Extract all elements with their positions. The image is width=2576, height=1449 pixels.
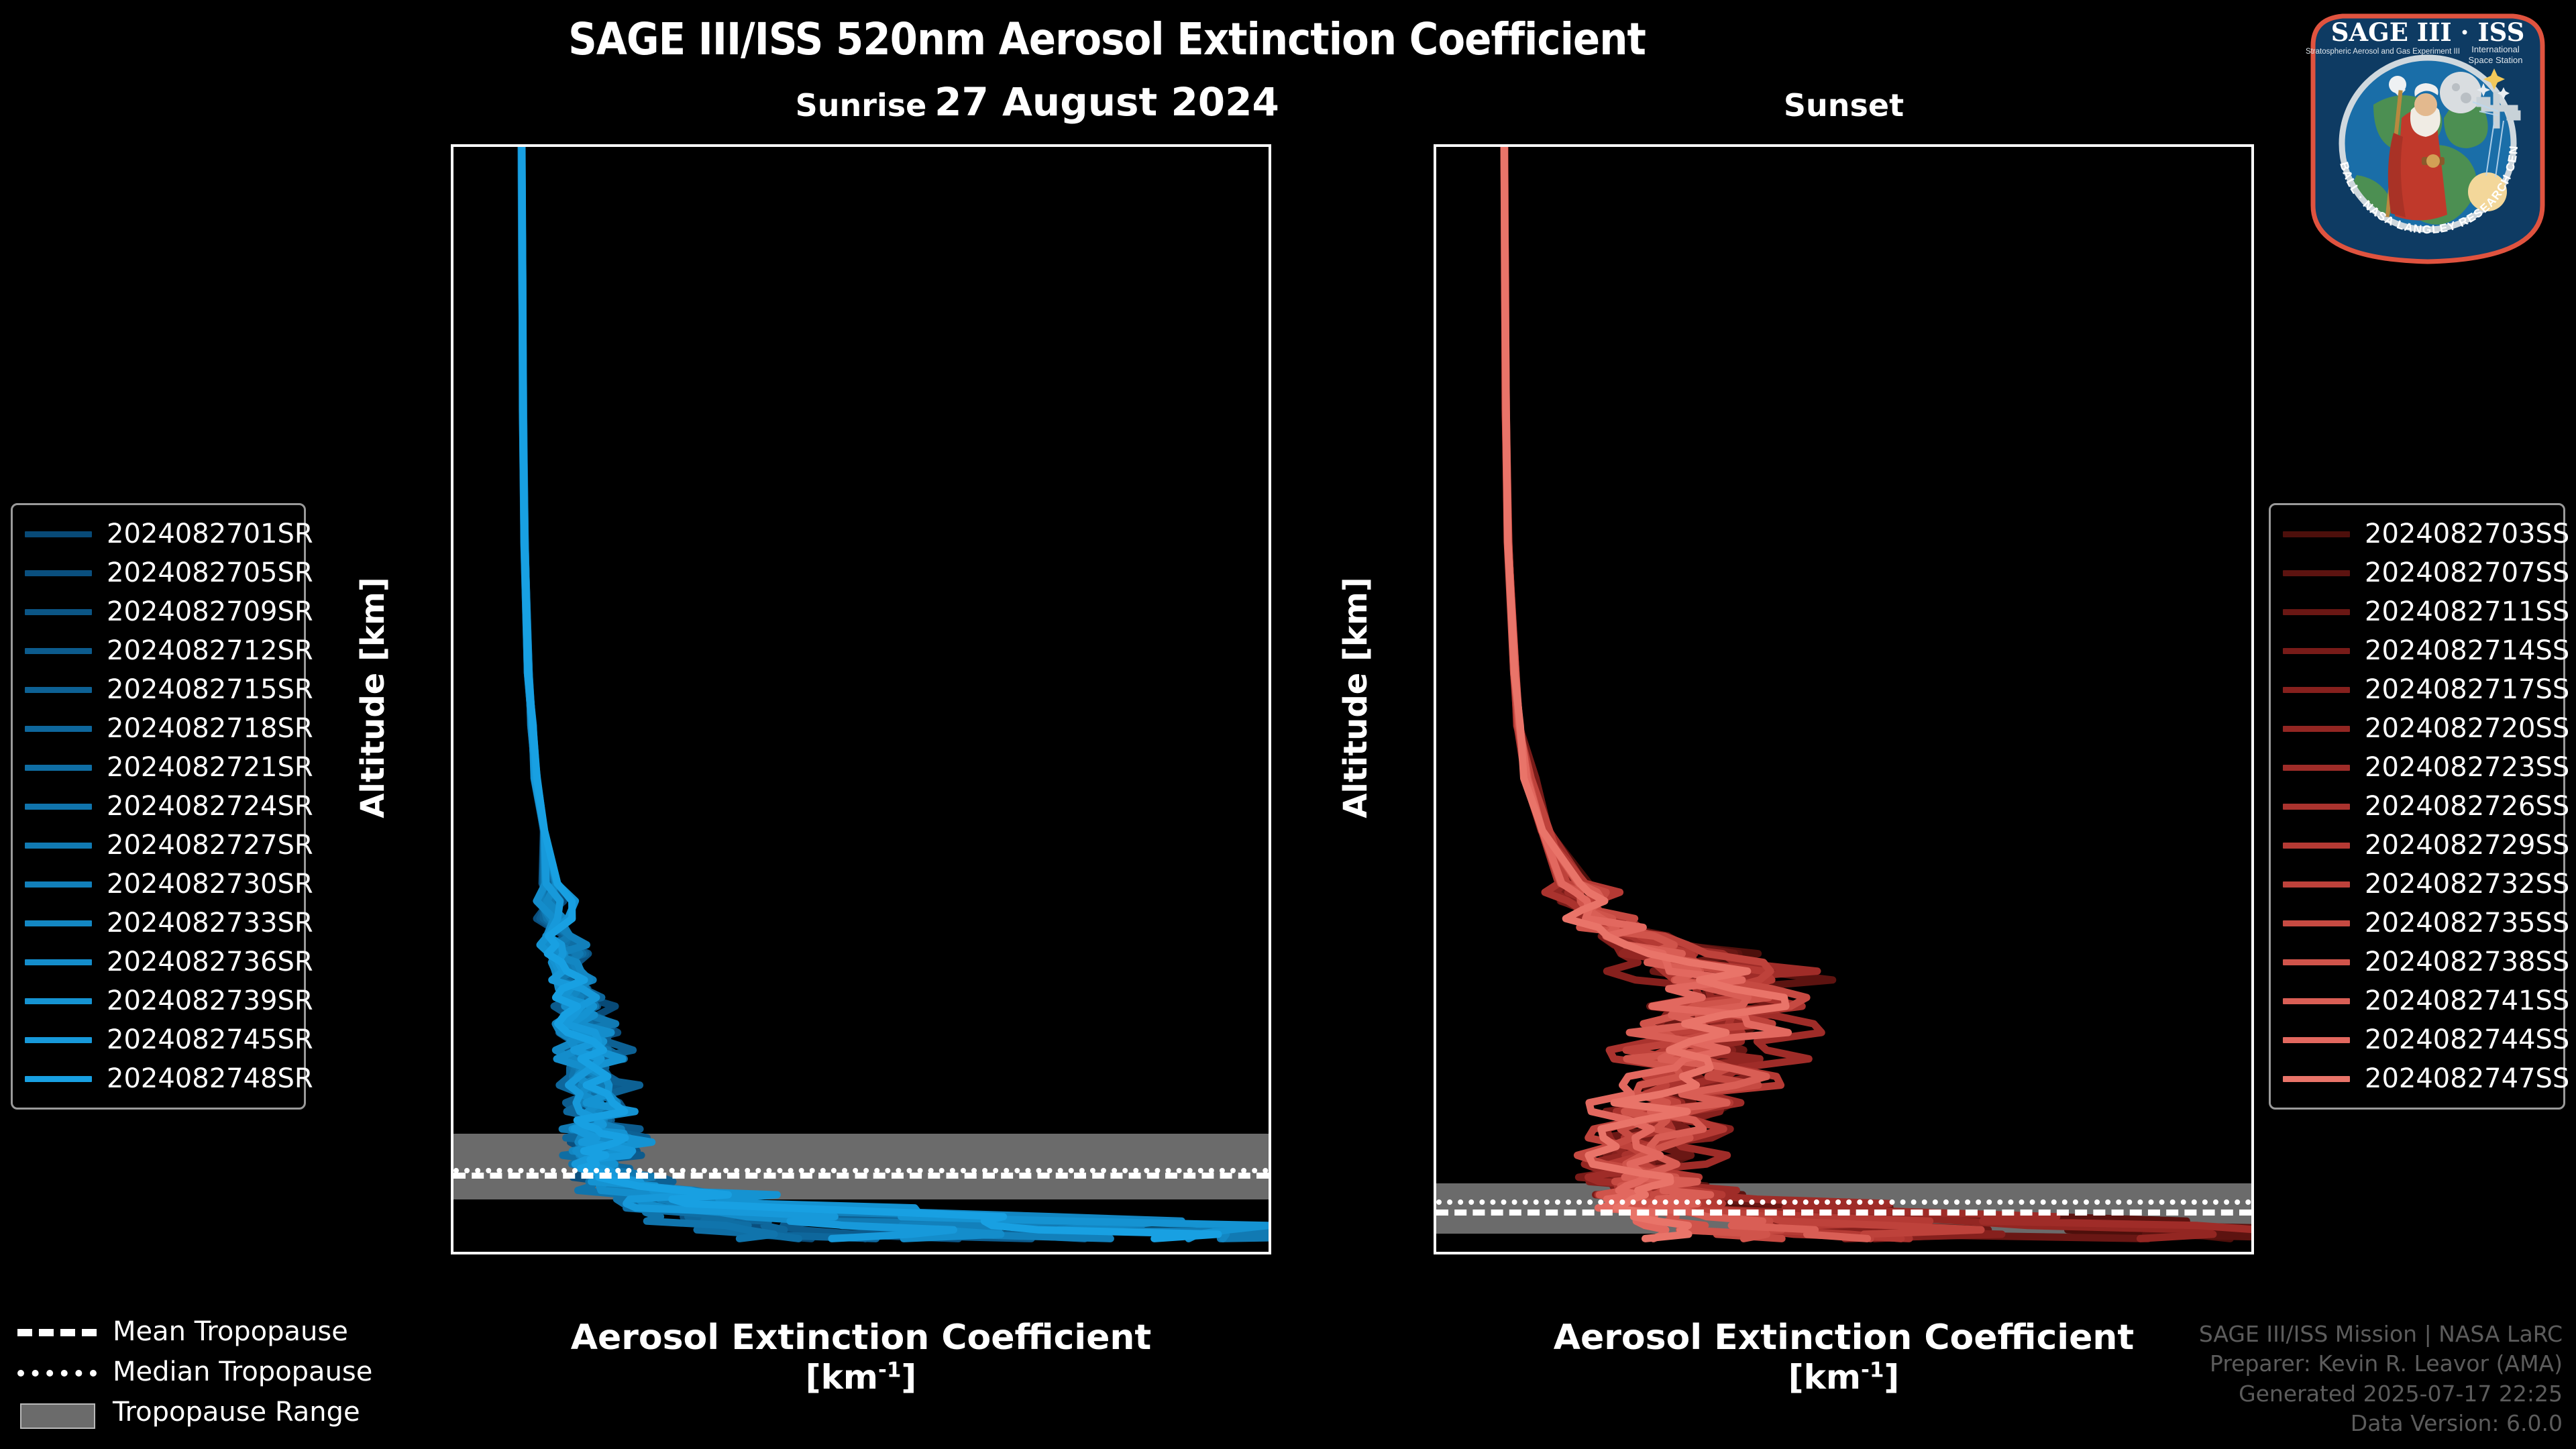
- legend-item[interactable]: 2024082744SS: [2283, 1020, 2551, 1059]
- legend-item[interactable]: 2024082711SS: [2283, 592, 2551, 631]
- legend-color-swatch: [25, 687, 92, 693]
- x-axis-tick: [1952, 1252, 1954, 1254]
- legend-color-swatch: [25, 920, 92, 926]
- profile-line: [522, 147, 1269, 1238]
- x-axis-label-sunset: Aerosol Extinction Coefficient [km-1]: [1434, 1318, 2254, 1397]
- legend-color-swatch: [25, 726, 92, 732]
- y-axis-tick: [1434, 673, 1436, 675]
- tropopause-legend: Mean Tropopause Median Tropopause Tropop…: [17, 1311, 366, 1432]
- profile-curves: [1436, 147, 2251, 1252]
- mean-tropopause-label: Mean Tropopause: [113, 1316, 348, 1347]
- profile-line: [522, 147, 1269, 1238]
- legend-item[interactable]: 2024082715SR: [25, 670, 292, 709]
- legend-color-swatch: [2283, 765, 2350, 771]
- legend-color-swatch: [2283, 843, 2350, 849]
- logo-subtitle-left: Stratospheric Aerosol and Gas Experiment…: [2306, 48, 2460, 56]
- legend-item[interactable]: 2024082739SR: [25, 981, 292, 1020]
- legend-item[interactable]: 2024082736SR: [25, 943, 292, 981]
- legend-item-label: 2024082736SR: [107, 947, 313, 977]
- page-title: SAGE III/ISS 520nm Aerosol Extinction Co…: [0, 13, 2214, 65]
- legend-item-label: 2024082732SS: [2365, 869, 2569, 900]
- legend-item-label: 2024082703SS: [2365, 519, 2569, 549]
- legend-item[interactable]: 2024082701SR: [25, 515, 292, 553]
- legend-color-swatch: [25, 648, 92, 654]
- legend-item-label: 2024082727SR: [107, 830, 313, 861]
- legend-item[interactable]: 2024082730SR: [25, 865, 292, 904]
- legend-item-label: 2024082745SR: [107, 1024, 313, 1055]
- legend-item[interactable]: 2024082726SS: [2283, 787, 2551, 826]
- legend-item-label: 2024082735SS: [2365, 908, 2569, 938]
- mean-tropopause-line: [1436, 1210, 2251, 1216]
- legend-item-label: 2024082718SR: [107, 713, 313, 744]
- legend-item[interactable]: 2024082718SR: [25, 709, 292, 748]
- dashed-line-icon: [17, 1323, 97, 1340]
- shaded-band-icon: [17, 1403, 97, 1421]
- legend-item[interactable]: 2024082724SR: [25, 787, 292, 826]
- legend-color-swatch: [25, 531, 92, 537]
- legend-item-label: 2024082729SS: [2365, 830, 2569, 861]
- legend-item[interactable]: 2024082707SS: [2283, 553, 2551, 592]
- legend-color-swatch: [2283, 998, 2350, 1004]
- x-axis-tick: [2251, 1252, 2253, 1254]
- legend-item[interactable]: 2024082747SS: [2283, 1059, 2551, 1098]
- logo-subtitle-right-2: Space Station: [2469, 55, 2523, 65]
- legend-item-label: 2024082741SS: [2365, 985, 2569, 1016]
- legend-color-swatch: [2283, 881, 2350, 888]
- dotted-line-icon: [17, 1363, 97, 1381]
- legend-item[interactable]: 2024082729SS: [2283, 826, 2551, 865]
- x-axis-label-text: Aerosol Extinction Coefficient: [1554, 1318, 2135, 1358]
- legend-item[interactable]: 2024082717SS: [2283, 670, 2551, 709]
- legend-item-label: 2024082738SS: [2365, 947, 2569, 977]
- y-axis-tick: [1434, 541, 1436, 543]
- profile-line: [1505, 147, 2213, 1238]
- y-axis-tick: [451, 1199, 453, 1201]
- profile-curves: [453, 147, 1269, 1252]
- sunrise-plot-panel: 1015202530354045500.0000.0020.0040.0060.…: [451, 144, 1271, 1254]
- legend-item-tropopause-range: Tropopause Range: [17, 1392, 366, 1432]
- x-axis-label-sunrise: Aerosol Extinction Coefficient [km-1]: [451, 1318, 1271, 1397]
- legend-item[interactable]: 2024082714SS: [2283, 631, 2551, 670]
- y-axis-tick: [1434, 1068, 1436, 1070]
- legend-color-swatch: [2283, 804, 2350, 810]
- y-axis-tick: [451, 1068, 453, 1070]
- tropopause-range-label: Tropopause Range: [113, 1397, 360, 1428]
- legend-color-swatch: [2283, 687, 2350, 693]
- legend-item-label: 2024082723SS: [2365, 752, 2569, 783]
- profile-line: [1505, 147, 2251, 1238]
- legend-sunrise[interactable]: 2024082701SR2024082705SR2024082709SR2024…: [11, 503, 306, 1110]
- x-axis-tick: [1653, 1252, 1655, 1254]
- profile-line: [1505, 147, 2149, 1238]
- legend-item-label: 2024082721SR: [107, 752, 313, 783]
- y-axis-tick: [1434, 278, 1436, 280]
- legend-item-label: 2024082748SR: [107, 1063, 313, 1094]
- legend-item[interactable]: 2024082723SS: [2283, 748, 2551, 787]
- y-axis-tick: [1434, 410, 1436, 412]
- legend-item-label: 2024082705SR: [107, 557, 313, 588]
- footer-preparer: Preparer: Kevin R. Leavor (AMA): [2199, 1349, 2563, 1379]
- mean-tropopause-line: [453, 1173, 1269, 1179]
- legend-color-swatch: [2283, 531, 2350, 537]
- legend-item[interactable]: 2024082703SS: [2283, 515, 2551, 553]
- legend-color-swatch: [2283, 959, 2350, 965]
- y-axis-tick: [451, 147, 453, 149]
- y-axis-label-sunrise: Altitude [km]: [354, 577, 392, 818]
- profile-line: [521, 147, 812, 1238]
- legend-color-swatch: [2283, 570, 2350, 576]
- logo-subtitle-right-1: International: [2471, 44, 2520, 54]
- footer-metadata: SAGE III/ISS Mission | NASA LaRC Prepare…: [2199, 1320, 2563, 1438]
- legend-color-swatch: [2283, 920, 2350, 926]
- legend-item-label: 2024082720SS: [2365, 713, 2569, 744]
- legend-color-swatch: [25, 998, 92, 1004]
- legend-item[interactable]: 2024082727SR: [25, 826, 292, 865]
- x-axis-tick: [969, 1252, 971, 1254]
- legend-color-swatch: [25, 804, 92, 810]
- x-axis-label-text: Aerosol Extinction Coefficient: [571, 1318, 1152, 1358]
- x-axis-tick: [1503, 1252, 1505, 1254]
- legend-item-label: 2024082724SR: [107, 791, 313, 822]
- legend-item[interactable]: 2024082732SS: [2283, 865, 2551, 904]
- legend-color-swatch: [25, 609, 92, 615]
- profile-line: [521, 147, 774, 1238]
- legend-sunset[interactable]: 2024082703SS2024082707SS2024082711SS2024…: [2269, 503, 2565, 1110]
- legend-color-swatch: [25, 1076, 92, 1082]
- y-axis-tick: [451, 410, 453, 412]
- footer-data-version: Data Version: 6.0.0: [2199, 1409, 2563, 1438]
- profile-line: [1505, 147, 2252, 1238]
- legend-item-label: 2024082744SS: [2365, 1024, 2569, 1055]
- x-axis-unit: [km-1]: [1434, 1358, 2254, 1397]
- legend-item[interactable]: 2024082741SS: [2283, 981, 2551, 1020]
- legend-item-label: 2024082712SR: [107, 635, 313, 666]
- legend-item-label: 2024082747SS: [2365, 1063, 2569, 1094]
- legend-item[interactable]: 2024082712SR: [25, 631, 292, 670]
- y-axis-tick: [451, 541, 453, 543]
- legend-item-label: 2024082726SS: [2365, 791, 2569, 822]
- x-axis-tick: [2102, 1252, 2104, 1254]
- y-axis-tick: [1434, 936, 1436, 938]
- y-axis-tick: [1434, 147, 1436, 149]
- sunrise-panel-title: Sunrise: [451, 87, 1271, 123]
- legend-item-label: 2024082711SS: [2365, 596, 2569, 627]
- legend-item-label: 2024082707SS: [2365, 557, 2569, 588]
- legend-item-label: 2024082733SR: [107, 908, 313, 938]
- legend-color-swatch: [25, 959, 92, 965]
- y-axis-tick: [451, 673, 453, 675]
- median-tropopause-label: Median Tropopause: [113, 1356, 372, 1387]
- x-axis-tick: [1803, 1252, 1805, 1254]
- legend-color-swatch: [2283, 1037, 2350, 1043]
- legend-item[interactable]: 2024082705SR: [25, 553, 292, 592]
- legend-item[interactable]: 2024082745SR: [25, 1020, 292, 1059]
- profile-line: [522, 147, 1218, 1238]
- sunset-panel-title: Sunset: [1434, 87, 2254, 123]
- legend-item[interactable]: 2024082709SR: [25, 592, 292, 631]
- legend-color-swatch: [2283, 1076, 2350, 1082]
- legend-item-label: 2024082709SR: [107, 596, 313, 627]
- legend-item[interactable]: 2024082721SR: [25, 748, 292, 787]
- y-axis-tick: [451, 936, 453, 938]
- legend-color-swatch: [25, 1037, 92, 1043]
- legend-item[interactable]: 2024082738SS: [2283, 943, 2551, 981]
- x-axis-tick: [1269, 1252, 1271, 1254]
- x-axis-tick: [820, 1252, 822, 1254]
- legend-item[interactable]: 2024082735SS: [2283, 904, 2551, 943]
- legend-item-median-tropopause: Median Tropopause: [17, 1352, 366, 1392]
- median-tropopause-line: [453, 1168, 1269, 1173]
- legend-color-swatch: [25, 765, 92, 771]
- y-axis-label-sunset: Altitude [km]: [1337, 577, 1375, 818]
- legend-item-label: 2024082730SR: [107, 869, 313, 900]
- footer-mission: SAGE III/ISS Mission | NASA LaRC: [2199, 1320, 2563, 1349]
- legend-item-label: 2024082714SS: [2365, 635, 2569, 666]
- y-axis-tick: [451, 278, 453, 280]
- profile-line: [521, 147, 798, 1238]
- sage-iii-iss-mission-patch-icon: SAGE III · ISS Stratospheric Aerosol and…: [2293, 4, 2563, 266]
- legend-color-swatch: [25, 570, 92, 576]
- profile-line: [522, 147, 954, 1238]
- legend-item[interactable]: 2024082748SR: [25, 1059, 292, 1098]
- legend-color-swatch: [2283, 648, 2350, 654]
- legend-item[interactable]: 2024082720SS: [2283, 709, 2551, 748]
- median-tropopause-line: [1436, 1199, 2251, 1205]
- legend-color-swatch: [25, 881, 92, 888]
- legend-color-swatch: [2283, 726, 2350, 732]
- legend-color-swatch: [25, 843, 92, 849]
- legend-item-label: 2024082717SS: [2365, 674, 2569, 705]
- footer-generated: Generated 2025-07-17 22:25: [2199, 1379, 2563, 1409]
- y-axis-tick: [1434, 804, 1436, 806]
- legend-item-mean-tropopause: Mean Tropopause: [17, 1311, 366, 1352]
- profile-line: [522, 147, 1226, 1238]
- logo-title: SAGE III · ISS: [2331, 17, 2525, 47]
- x-axis-tick: [1119, 1252, 1121, 1254]
- y-axis-tick: [451, 804, 453, 806]
- sunset-plot-panel: 1015202530354045500.0000.0020.0040.0060.…: [1434, 144, 2254, 1254]
- legend-item[interactable]: 2024082733SR: [25, 904, 292, 943]
- profile-line: [1504, 147, 2230, 1238]
- x-axis-unit: [km-1]: [451, 1358, 1271, 1397]
- legend-item-label: 2024082739SR: [107, 985, 313, 1016]
- x-axis-tick: [670, 1252, 672, 1254]
- legend-item-label: 2024082701SR: [107, 519, 313, 549]
- y-axis-tick: [1434, 1199, 1436, 1201]
- legend-item-label: 2024082715SR: [107, 674, 313, 705]
- x-axis-tick: [521, 1252, 523, 1254]
- legend-color-swatch: [2283, 609, 2350, 615]
